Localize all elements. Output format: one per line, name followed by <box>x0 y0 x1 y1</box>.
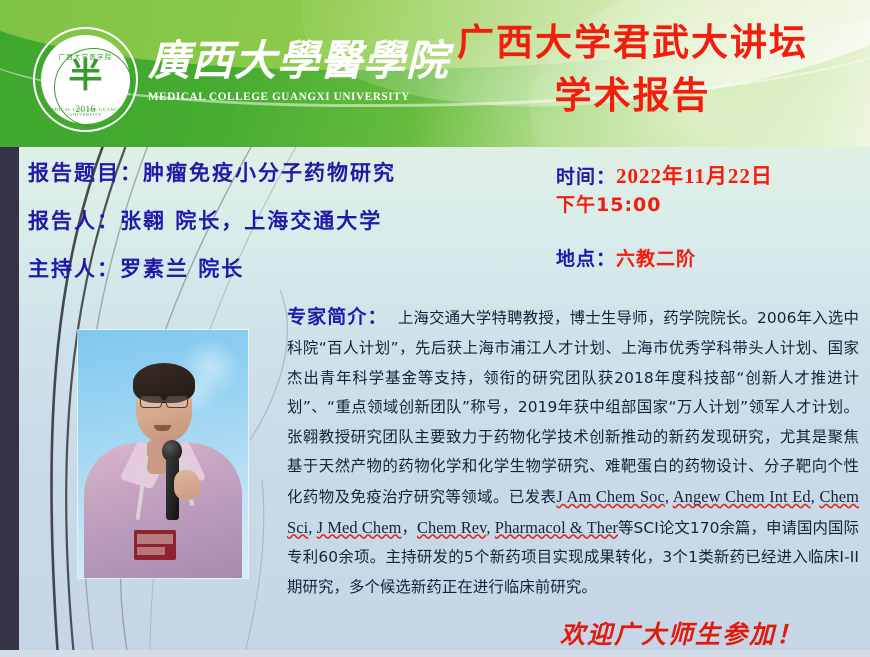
journal-3: J Med Chem <box>317 518 402 537</box>
host-row: 主持人：罗素兰 院长 <box>28 256 548 283</box>
journal-1: Angew Chem Int Ed <box>673 487 811 506</box>
lecture-info-left: 报告题目：肿瘤免疫小分子药物研究 报告人：张翱 院长，上海交通大学 主持人：罗素… <box>28 160 548 283</box>
lecture-info-right: 时间：2022年11月22日 下午15:00 地点：六教二阶 <box>556 162 866 273</box>
journal-0: J Am Chem Soc <box>556 487 664 506</box>
speaker-label: 报告人： <box>28 209 120 233</box>
time-row-2: 下午15:00 <box>556 191 866 219</box>
speaker-row: 报告人：张翱 院长，上海交通大学 <box>28 208 548 235</box>
seal-emblem-icon: 半 <box>41 59 130 93</box>
poster: 广西大学医学院 半 2016 MEDICAL COLLEGE GUANGXI U… <box>0 0 870 657</box>
left-accent-strip <box>0 140 19 657</box>
host-value: 罗素兰 院长 <box>120 257 244 281</box>
journal-4: Chem Rev <box>417 518 486 537</box>
photo-glasses-right <box>166 396 188 408</box>
seal-name-en: MEDICAL COLLEGE GUANGXI UNIVERSITY <box>41 107 130 117</box>
bio-title: 专家简介： <box>287 306 388 328</box>
photo-badge-line-1 <box>137 534 173 544</box>
seal-inner-disc: 广西大学医学院 半 2016 MEDICAL COLLEGE GUANGXI U… <box>41 35 130 124</box>
welcome-message: 欢迎广大师生参加！ <box>560 615 803 651</box>
college-name-cn: 廣西大學醫學院 <box>148 36 388 86</box>
photo-glasses-left <box>140 396 162 408</box>
header-banner: 广西大学医学院 半 2016 MEDICAL COLLEGE GUANGXI U… <box>0 0 870 147</box>
photo-hand <box>174 470 200 500</box>
time-label: 时间： <box>556 166 616 188</box>
topic-row: 报告题目：肿瘤免疫小分子药物研究 <box>28 160 548 187</box>
bottom-strip <box>0 650 870 657</box>
college-name-en: MEDICAL COLLEGE GUANGXI UNIVERSITY <box>148 91 388 103</box>
time-value-2: 下午15:00 <box>556 194 661 216</box>
place-row: 地点：六教二阶 <box>556 245 866 273</box>
university-logo: 广西大学医学院 半 2016 MEDICAL COLLEGE GUANGXI U… <box>33 27 138 132</box>
journal-5: Pharmacol & Ther <box>495 518 618 537</box>
topic-label: 报告题目： <box>28 161 143 185</box>
time-row: 时间：2022年11月22日 <box>556 162 866 191</box>
speaker-bio: 专家简介： 上海交通大学特聘教授，博士生导师，药学院院长。2006年入选中科院“… <box>287 288 859 618</box>
college-name: 廣西大學醫學院 MEDICAL COLLEGE GUANGXI UNIVERSI… <box>148 36 388 103</box>
bio-paragraph: 专家简介： 上海交通大学特聘教授，博士生导师，药学院院长。2006年入选中科院“… <box>287 303 859 602</box>
topic-value: 肿瘤免疫小分子药物研究 <box>143 161 396 185</box>
time-value: 2022年11月22日 <box>616 164 773 188</box>
place-value: 六教二阶 <box>616 248 696 270</box>
title-line-1: 广西大学君武大讲坛 <box>400 20 865 65</box>
photo-name-badge <box>134 530 176 560</box>
bio-part-1: 上海交通大学特聘教授，博士生导师，药学院院长。2006年入选中科院“百人计划”，… <box>287 309 859 506</box>
speaker-photo <box>78 330 248 578</box>
photo-glasses-bridge <box>162 400 167 402</box>
place-label: 地点： <box>556 248 616 270</box>
title-line-2: 学术报告 <box>400 73 865 118</box>
speaker-value: 张翱 院长，上海交通大学 <box>120 209 382 233</box>
host-label: 主持人： <box>28 257 120 281</box>
photo-badge-line-2 <box>137 547 165 555</box>
poster-title: 广西大学君武大讲坛 学术报告 <box>400 20 865 118</box>
